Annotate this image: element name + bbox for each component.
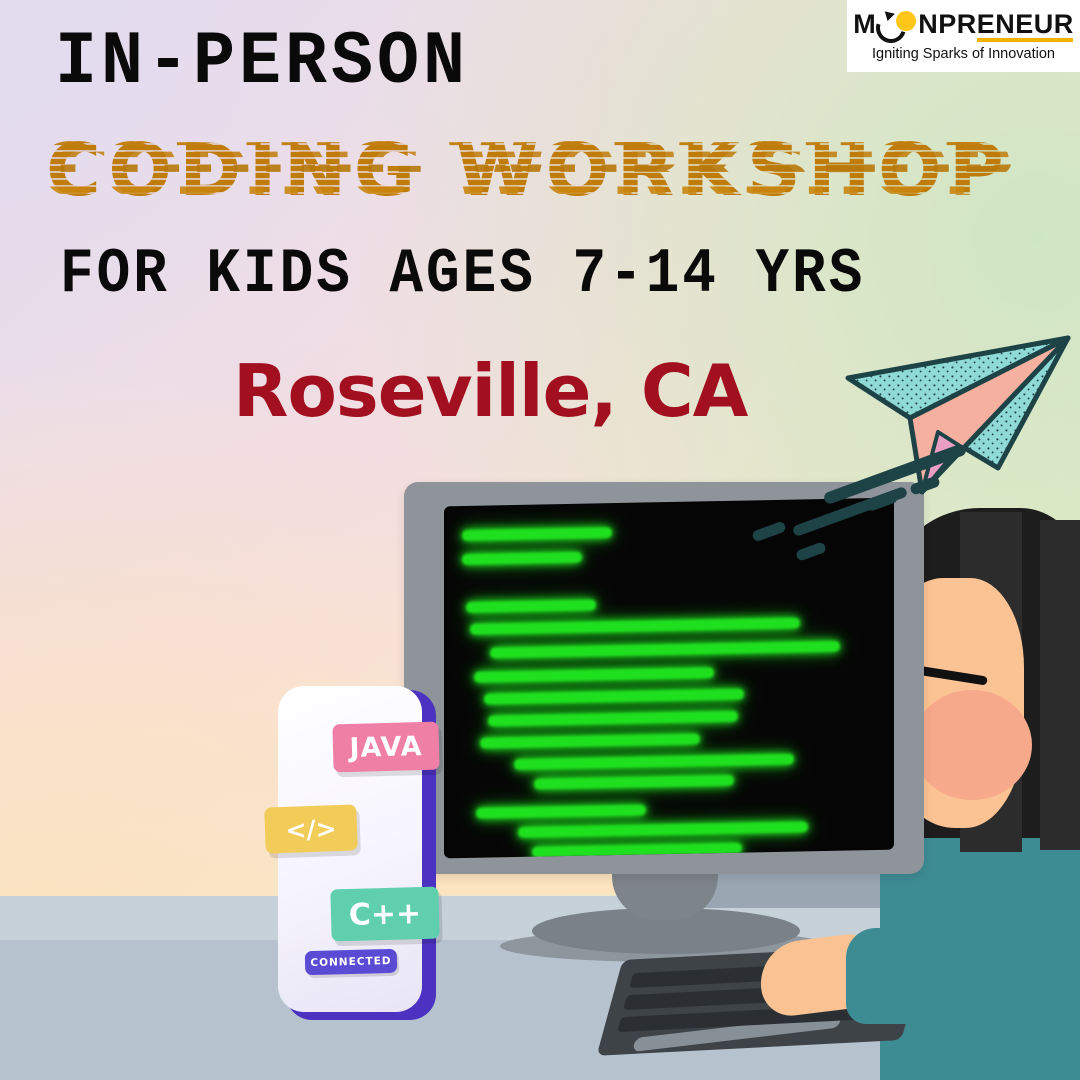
page-title: CODING WORKSHOP CODING WORKSHOP CODING W… (46, 124, 1046, 216)
boy-cheek (912, 690, 1032, 800)
badge-connected: CONNECTED (305, 949, 398, 975)
kicker-text: IN-PERSON (55, 26, 469, 102)
screen-code-line (488, 711, 738, 727)
screen-code-line (466, 599, 596, 612)
screen-code-line (476, 804, 646, 818)
logo-moon-arrow-icon (876, 11, 918, 38)
monitor-screen (444, 498, 894, 859)
computer-monitor (404, 482, 924, 874)
logo-word-left: M (853, 11, 876, 38)
brand-logo[interactable]: MNPRENEUR Igniting Sparks of Innovation (847, 0, 1080, 72)
screen-code-line (462, 527, 612, 541)
screen-code-line (484, 689, 744, 705)
paper-plane-illustration (770, 320, 1080, 540)
screen-code-line (462, 552, 582, 565)
screen-code-line (474, 667, 714, 683)
code-tag-icon: </> (264, 804, 358, 853)
screen-code-line (518, 821, 808, 838)
logo-tagline: Igniting Sparks of Innovation (872, 46, 1055, 62)
screen-code-line (470, 617, 800, 634)
location-text: Roseville, CA (233, 352, 747, 431)
boy-sleeve (846, 928, 996, 1024)
logo-word-right: NPRENEUR (918, 11, 1074, 38)
subtitle-text: FOR KIDS AGES 7-14 YRS (60, 243, 865, 306)
badge-cpp: C++ (330, 887, 439, 942)
screen-code-line (480, 733, 700, 748)
badge-java: JAVA (332, 722, 439, 773)
screen-code-line (514, 754, 794, 770)
screen-code-line (534, 775, 734, 790)
paper-plane-svg (770, 320, 1080, 540)
screen-code-line (532, 843, 742, 858)
screen-code-line (490, 641, 840, 659)
boy-hair-strand-back (1040, 520, 1080, 850)
poster-canvas: JAVA </> C++ CONNECTED IN-PERSON CODING … (0, 0, 1080, 1080)
logo-underline (977, 38, 1073, 42)
logo-wordmark: MNPRENEUR (853, 11, 1074, 38)
